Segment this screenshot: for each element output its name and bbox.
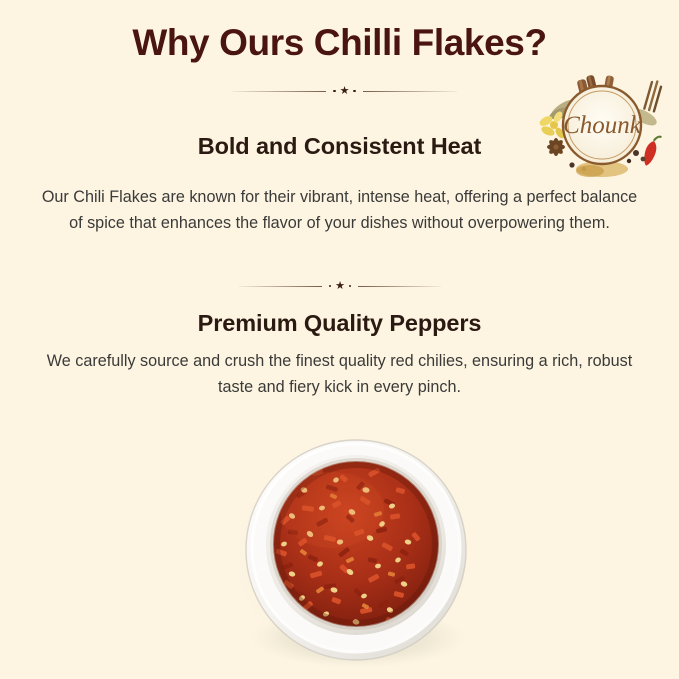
section-heading-bold-heat: Bold and Consistent Heat — [0, 133, 679, 160]
divider-dot-right — [349, 285, 352, 288]
divider-rule-right — [358, 286, 441, 287]
divider-dot-left — [333, 90, 336, 93]
chilli-flakes-bowl-image — [240, 432, 472, 670]
section-heading-premium-peppers: Premium Quality Peppers — [0, 310, 679, 337]
section-body-premium-peppers: We carefully source and crush the finest… — [0, 348, 679, 400]
divider-rule-left — [232, 91, 326, 92]
divider-dot-right — [353, 90, 356, 93]
section-body-bold-heat: Our Chili Flakes are known for their vib… — [0, 184, 679, 236]
product-feature-panel: Why Ours Chilli Flakes? ★ — [0, 0, 679, 679]
ornamental-divider-middle: ★ — [239, 279, 441, 293]
ornamental-divider-top: ★ — [232, 84, 457, 98]
divider-dot-left — [329, 285, 332, 288]
divider-rule-left — [239, 286, 322, 287]
divider-ornament: ★ — [322, 281, 359, 292]
star-icon: ★ — [335, 281, 345, 292]
divider-rule-right — [363, 91, 457, 92]
chounk-brand-logo: Chounk — [532, 73, 676, 179]
divider-ornament: ★ — [326, 86, 363, 97]
page-title: Why Ours Chilli Flakes? — [0, 22, 679, 64]
star-icon: ★ — [340, 86, 350, 97]
